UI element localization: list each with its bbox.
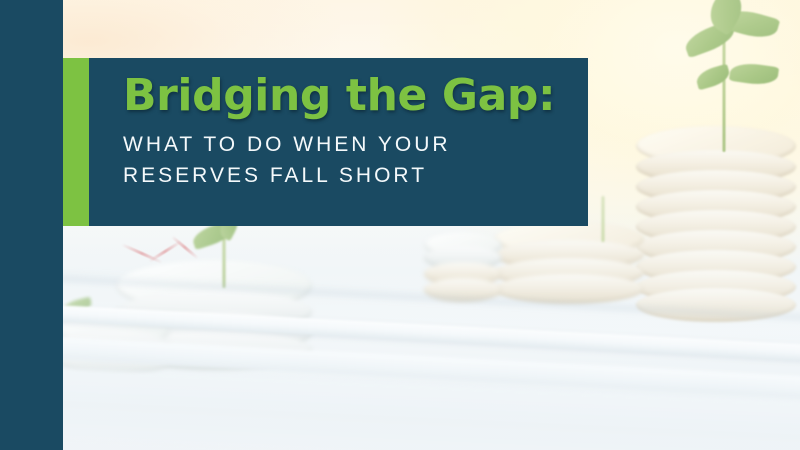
left-sidebar-bar — [0, 0, 63, 450]
green-accent-bar — [63, 58, 89, 226]
page-subtitle-line-1: WHAT TO DO WHEN YOUR — [123, 129, 570, 160]
title-panel: Bridging the Gap: WHAT TO DO WHEN YOUR R… — [89, 58, 588, 226]
page-subtitle-line-2: RESERVES FALL SHORT — [123, 160, 570, 191]
page-title: Bridging the Gap: — [123, 74, 570, 119]
slide-canvas: Bridging the Gap: WHAT TO DO WHEN YOUR R… — [0, 0, 800, 450]
title-block: Bridging the Gap: WHAT TO DO WHEN YOUR R… — [63, 58, 588, 226]
page-subtitle: WHAT TO DO WHEN YOUR RESERVES FALL SHORT — [123, 129, 570, 191]
